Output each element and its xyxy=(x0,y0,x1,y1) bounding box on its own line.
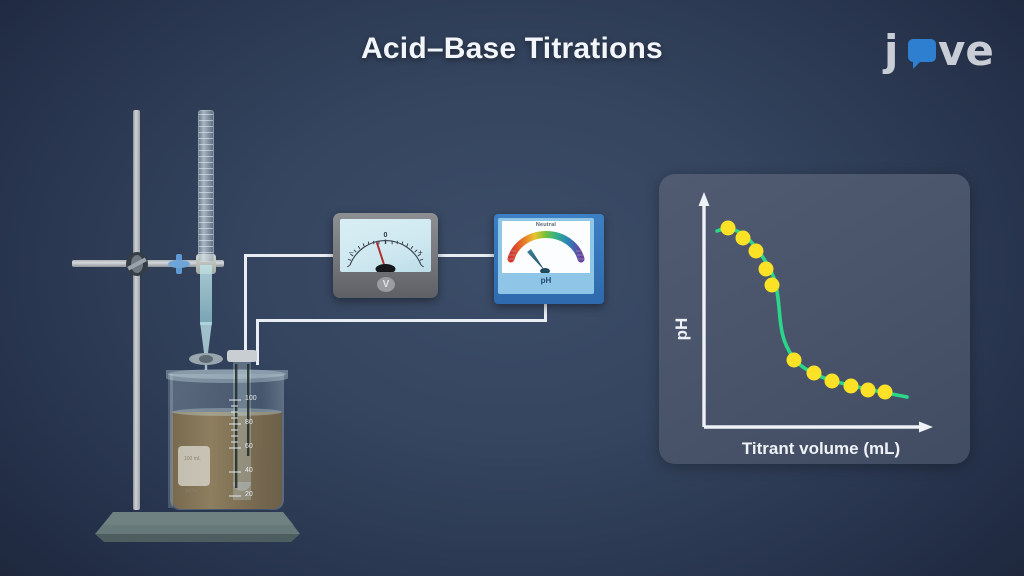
chart-point xyxy=(749,244,764,259)
logo-text-j: j xyxy=(884,28,898,76)
voltmeter[interactable]: 0 – + V xyxy=(333,213,438,298)
probe-tick-80: 80 xyxy=(245,419,253,426)
ph-meter[interactable]: Neutral xyxy=(494,214,604,304)
slide-canvas: Acid–Base Titrations j ve xyxy=(0,0,1024,576)
voltmeter-scale: 0 – + xyxy=(340,219,431,272)
chart-point xyxy=(844,379,859,394)
chart-point xyxy=(721,221,736,236)
chart-point xyxy=(787,353,802,368)
probe-tick-100: 100 xyxy=(245,395,257,402)
burette-stopcock[interactable] xyxy=(168,254,190,274)
voltmeter-plus-label: + xyxy=(418,248,423,257)
titration-chart: pH Titrant volume (mL) xyxy=(659,174,970,464)
wire-probe-to-voltmeter-horizontal xyxy=(244,254,336,257)
burette-graduations xyxy=(199,114,213,256)
voltmeter-unit-label: V xyxy=(377,277,395,292)
titration-curve-panel: pH Titrant volume (mL) xyxy=(659,174,970,464)
chart-point xyxy=(807,366,822,381)
probe-tick-40: 40 xyxy=(245,467,253,474)
stand-clamp xyxy=(124,252,150,276)
chart-point xyxy=(736,231,751,246)
stand-rod xyxy=(133,110,140,510)
logo-text-ve: ve xyxy=(938,28,994,76)
ph-meter-body: Neutral xyxy=(498,218,594,294)
ph-gauge-neutral-label: Neutral xyxy=(502,222,590,228)
beaker-volume-label: 100 mL xyxy=(184,456,201,462)
chart-x-axis-label: Titrant volume (mL) xyxy=(742,439,900,458)
graduated-probe xyxy=(223,350,261,510)
burette-liquid xyxy=(200,265,212,325)
ph-gauge xyxy=(502,221,590,273)
wire-probe-to-voltmeter-vertical xyxy=(244,254,247,360)
stand-base xyxy=(95,508,300,542)
voltmeter-face: 0 – + xyxy=(340,219,431,272)
probe-tick-20: 20 xyxy=(245,491,253,498)
chart-point xyxy=(878,385,893,400)
speech-bubble-icon xyxy=(908,39,936,62)
chart-point xyxy=(765,278,780,293)
electrode-holder xyxy=(188,350,224,368)
wire-voltmeter-to-phmeter xyxy=(437,254,495,257)
ph-meter-label: pH xyxy=(498,276,594,285)
voltmeter-minus-label: – xyxy=(349,248,354,257)
chart-data-points xyxy=(721,221,893,400)
chart-point xyxy=(759,262,774,277)
page-title: Acid–Base Titrations xyxy=(0,32,1024,66)
chart-point xyxy=(861,383,876,398)
voltmeter-zero-label: 0 xyxy=(384,232,388,239)
beaker-stirbar-label: stir bar xyxy=(185,488,199,493)
jove-logo[interactable]: j ve xyxy=(884,28,996,76)
wire-phmeter-horizontal xyxy=(256,319,547,322)
ph-meter-face: Neutral xyxy=(502,221,590,273)
chart-y-axis-label: pH xyxy=(672,318,691,341)
chart-point xyxy=(825,374,840,389)
probe-tick-60: 60 xyxy=(245,443,253,450)
